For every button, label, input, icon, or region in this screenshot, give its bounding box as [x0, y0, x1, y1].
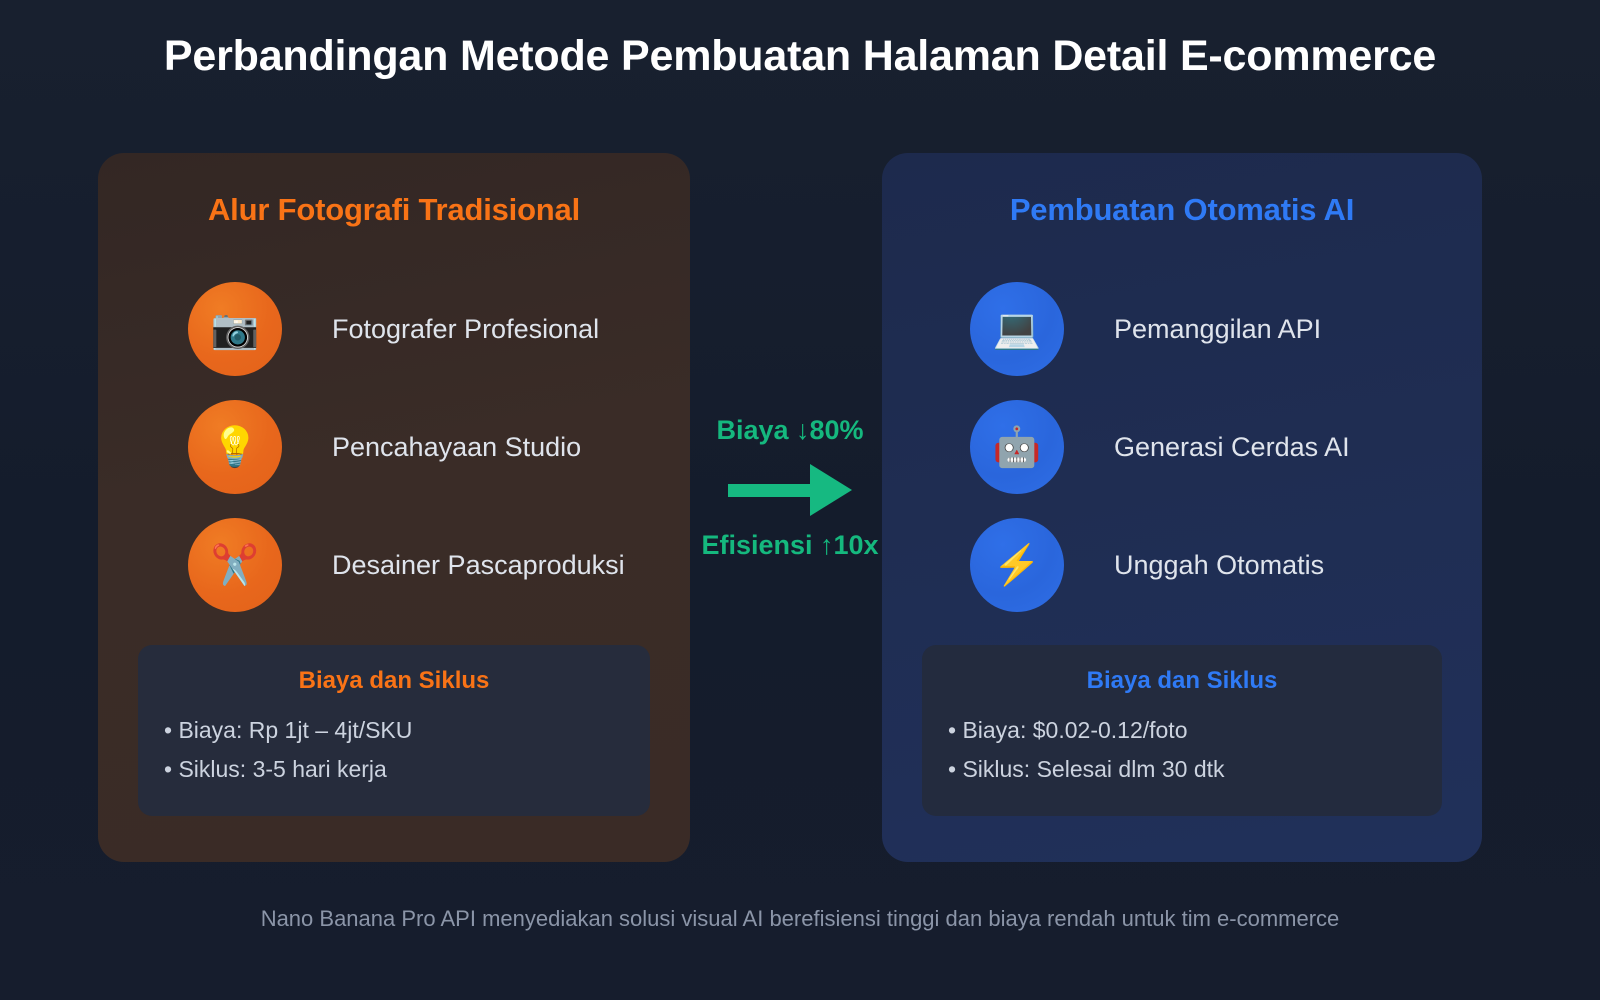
left-info-line-cycle: • Siklus: 3-5 hari kerja	[164, 750, 624, 790]
left-feature-list: 📷 Fotografer Profesional 💡 Pencahayaan S…	[98, 270, 690, 624]
traditional-photography-panel: Alur Fotografi Tradisional 📷 Fotografer …	[98, 153, 690, 862]
list-item: 💡 Pencahayaan Studio	[98, 388, 690, 506]
comparison-arrow-block: Biaya ↓80% Efisiensi ↑10x	[690, 415, 890, 561]
list-item-label: Fotografer Profesional	[332, 314, 599, 345]
right-cost-cycle-box: Biaya dan Siklus • Biaya: $0.02-0.12/fot…	[922, 645, 1442, 816]
list-item: ⚡ Unggah Otomatis	[882, 506, 1482, 624]
left-info-line-cost: • Biaya: Rp 1jt – 4jt/SKU	[164, 711, 624, 751]
light-bulb-icon: 💡	[188, 400, 282, 494]
list-item-label: Pencahayaan Studio	[332, 432, 581, 463]
lightning-bolt-icon: ⚡	[970, 518, 1064, 612]
list-item-label: Pemanggilan API	[1114, 314, 1321, 345]
list-item: 📷 Fotografer Profesional	[98, 270, 690, 388]
ai-automation-panel: Pembuatan Otomatis AI 💻 Pemanggilan API …	[882, 153, 1482, 862]
robot-icon: 🤖	[970, 400, 1064, 494]
left-info-title: Biaya dan Siklus	[164, 667, 624, 695]
arrow-shaft	[728, 484, 810, 497]
page-background: Perbandingan Metode Pembuatan Halaman De…	[0, 0, 1600, 1000]
page-title: Perbandingan Metode Pembuatan Halaman De…	[0, 32, 1600, 81]
right-panel-title: Pembuatan Otomatis AI	[882, 192, 1482, 228]
laptop-icon: 💻	[970, 282, 1064, 376]
right-info-title: Biaya dan Siklus	[948, 667, 1416, 695]
arrow-head	[810, 464, 852, 516]
list-item: ✂️ Desainer Pascaproduksi	[98, 506, 690, 624]
left-cost-cycle-box: Biaya dan Siklus • Biaya: Rp 1jt – 4jt/S…	[138, 645, 650, 816]
list-item: 💻 Pemanggilan API	[882, 270, 1482, 388]
list-item: 🤖 Generasi Cerdas AI	[882, 388, 1482, 506]
left-panel-title: Alur Fotografi Tradisional	[98, 192, 690, 228]
right-arrow-icon	[690, 464, 890, 516]
scissors-icon: ✂️	[188, 518, 282, 612]
list-item-label: Unggah Otomatis	[1114, 550, 1324, 581]
efficiency-gain-caption: Efisiensi ↑10x	[690, 530, 890, 561]
list-item-label: Desainer Pascaproduksi	[332, 550, 625, 581]
cost-reduction-caption: Biaya ↓80%	[690, 415, 890, 446]
right-info-line-cycle: • Siklus: Selesai dlm 30 dtk	[948, 750, 1416, 790]
list-item-label: Generasi Cerdas AI	[1114, 432, 1350, 463]
right-info-line-cost: • Biaya: $0.02-0.12/foto	[948, 711, 1416, 751]
footer-note: Nano Banana Pro API menyediakan solusi v…	[0, 906, 1600, 932]
camera-icon: 📷	[188, 282, 282, 376]
right-feature-list: 💻 Pemanggilan API 🤖 Generasi Cerdas AI ⚡…	[882, 270, 1482, 624]
